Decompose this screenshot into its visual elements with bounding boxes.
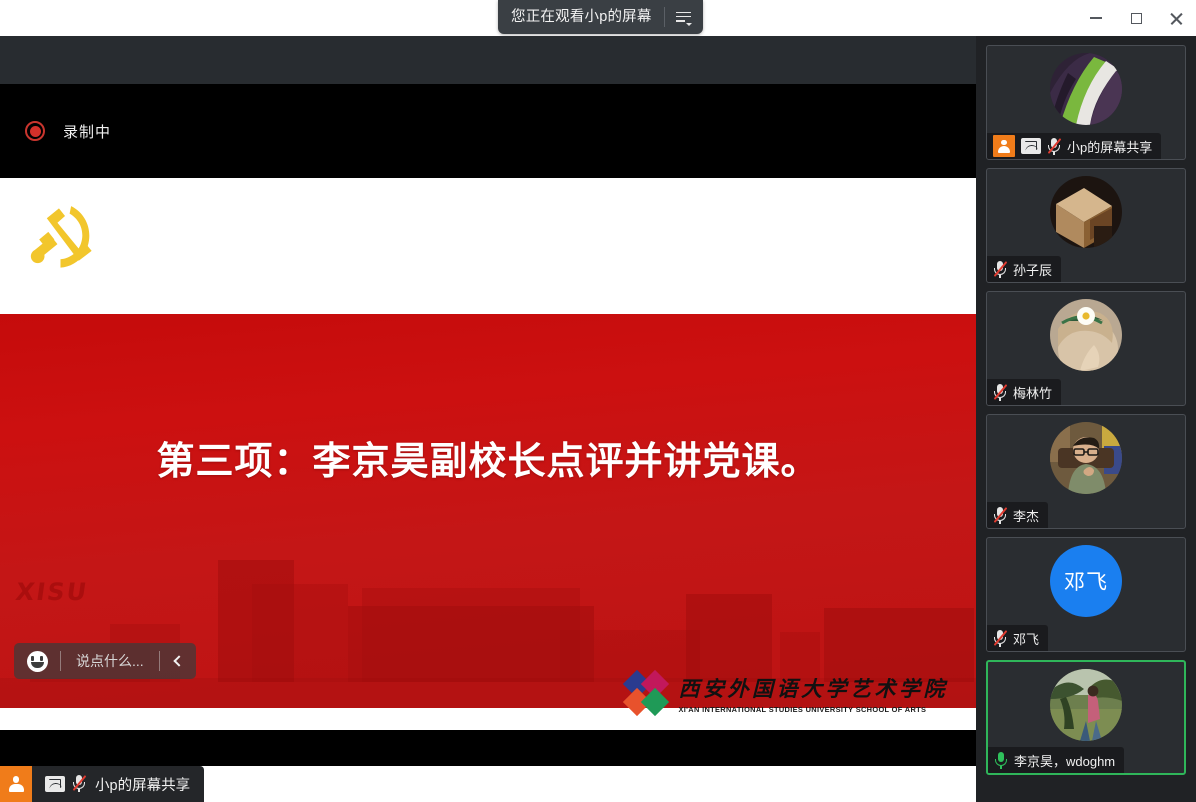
logo-english-name: XI'AN INTERNATIONAL STUDIES UNIVERSITY S… [679,705,949,714]
logo-diamonds-icon [625,672,667,714]
avatar [1050,299,1122,371]
avatar [1050,53,1122,125]
participant-label: 小p的屏幕共享 [987,133,1161,159]
stage-bottom-letterbox [0,730,976,766]
participant-tile-dengfei[interactable]: 邓飞 邓飞 [986,537,1186,652]
window-controls [1076,0,1196,36]
university-logo: 西安外国语大学艺术学院 XI'AN INTERNATIONAL STUDIES … [625,672,949,714]
participant-name: 梅林竹 [1013,383,1052,402]
smiley-face-icon[interactable] [14,643,60,679]
xisu-watermark: XISU [14,578,104,604]
participant-tile-sunzichen[interactable]: 孙子辰 [986,168,1186,283]
maximize-button[interactable] [1116,0,1156,36]
status-participant-name: 小p的屏幕共享 [95,774,190,795]
participant-name: 李京昊，wdoghm [1014,751,1115,770]
close-icon [1170,12,1183,25]
hamburger-menu-icon[interactable] [665,0,703,34]
avatar-initials: 邓飞 [1050,545,1122,617]
participant-name: 李杰 [1013,506,1039,525]
bottom-status-bar: 小p的屏幕共享 [0,766,976,802]
mic-muted-icon [993,506,1007,524]
minimize-button[interactable] [1076,0,1116,36]
participant-label: 李京昊，wdoghm [988,747,1124,773]
building-shape [252,584,348,682]
person-icon [993,135,1015,157]
record-dot-icon [25,121,45,141]
meeting-window: 您正在观看小p的屏幕 录制中 [0,0,1196,802]
shared-screen-stage[interactable]: 录制中 [0,36,976,766]
building-shape [362,588,580,682]
mic-muted-icon [993,383,1007,401]
participant-name: 邓飞 [1013,629,1039,648]
chat-composer[interactable]: 说点什么... [14,643,196,679]
mic-muted-icon [1047,137,1061,155]
recording-label: 录制中 [63,121,111,142]
mic-muted-icon [993,629,1007,647]
participant-name: 孙子辰 [1013,260,1052,279]
title-bar: 您正在观看小p的屏幕 [0,0,1196,36]
stage-top-letterbox [0,36,976,84]
participant-tile-lijinghao[interactable]: 李京昊，wdoghm [986,660,1186,775]
participant-label: 邓飞 [987,625,1048,651]
avatar [1050,176,1122,248]
screen-share-icon [1021,138,1041,154]
person-icon [0,766,32,802]
slide-header-band [0,178,976,314]
chat-input[interactable]: 说点什么... [61,643,159,679]
close-button[interactable] [1156,0,1196,36]
mic-muted-icon [993,260,1007,278]
window-title: 您正在观看小p的屏幕 [511,0,652,34]
recording-bar: 录制中 [0,84,976,178]
chevron-left-glyph [174,655,185,666]
viewing-title-pill[interactable]: 您正在观看小p的屏幕 [498,0,703,34]
participant-tile-screen-share[interactable]: 小p的屏幕共享 [986,45,1186,160]
building-shape [686,594,772,682]
cpc-hammer-sickle-emblem [24,200,100,276]
chevron-left-icon[interactable] [160,643,196,679]
avatar [1050,669,1122,741]
logo-chinese-name: 西安外国语大学艺术学院 [679,673,949,703]
participant-tile-lijie[interactable]: 李杰 [986,414,1186,529]
participant-rail[interactable]: 小p的屏幕共享 孙子辰 [976,36,1196,802]
building-shape [824,608,974,682]
avatar [1050,422,1122,494]
mic-on-icon [994,751,1008,769]
participant-label: 梅林竹 [987,379,1061,405]
mic-muted-icon [72,774,88,794]
participant-tile-meilinzhu[interactable]: 梅林竹 [986,291,1186,406]
smiley-glyph [27,651,48,672]
hamburger-glyph [676,12,691,23]
logo-text: 西安外国语大学艺术学院 XI'AN INTERNATIONAL STUDIES … [679,673,949,714]
screen-share-icon [45,776,65,792]
minimize-icon [1090,17,1102,19]
participant-name: 小p的屏幕共享 [1067,137,1152,156]
participant-label: 李杰 [987,502,1048,528]
active-share-indicator[interactable]: 小p的屏幕共享 [0,766,204,802]
slide-title: 第三项：李京昊副校长点评并讲党课。 [0,430,976,485]
maximize-icon [1131,13,1142,24]
participant-label: 孙子辰 [987,256,1061,282]
